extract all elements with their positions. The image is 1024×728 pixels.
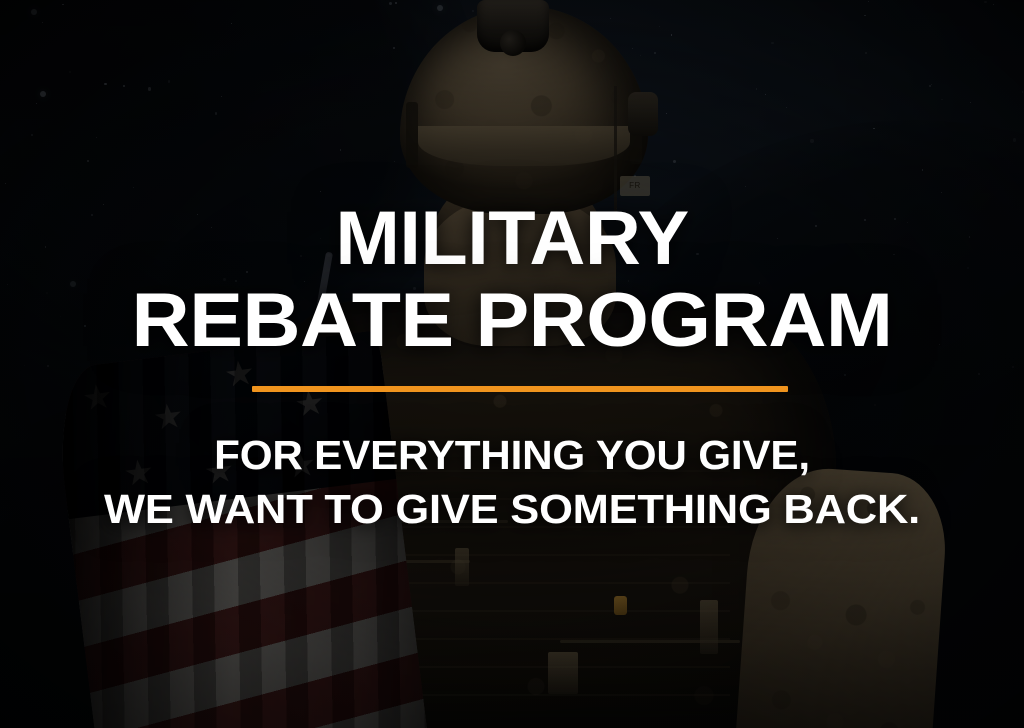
subtitle-line-2: WE WANT TO GIVE SOMETHING BACK. <box>0 489 1024 530</box>
orange-divider <box>252 386 788 392</box>
subtitle-line-1: FOR EVERYTHING YOU GIVE, <box>0 435 1024 476</box>
banner-content: MILITARY REBATE PROGRAM FOR EVERYTHING Y… <box>0 0 1024 728</box>
headline-line-1: MILITARY <box>0 203 1024 276</box>
headline-line-2: REBATE PROGRAM <box>0 285 1024 358</box>
military-rebate-banner: FR ★ ★ ★ ★ ★ ★ ★ MILITARY REBATE PROGRAM… <box>0 0 1024 728</box>
